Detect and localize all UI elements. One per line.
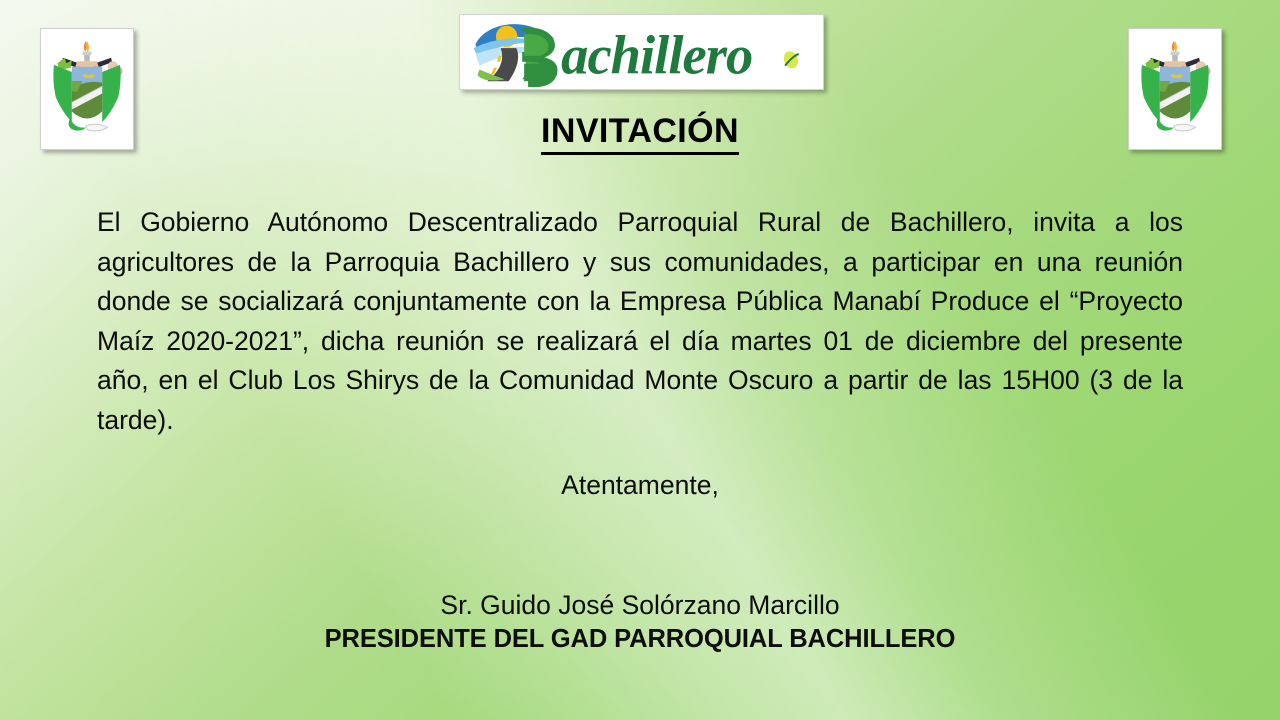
bachillero-logo-banner: achillero [459,14,824,90]
svg-text:achillero: achillero [561,24,752,85]
signatory-name: Sr. Guido José Solórzano Marcillo [0,588,1280,622]
page-title: INVITACIÓN [0,112,1280,155]
invitation-slide: achillero [0,0,1280,720]
invitation-body-text: El Gobierno Autónomo Descentralizado Par… [97,203,1183,440]
page-title-text: INVITACIÓN [541,112,739,155]
signatory-role: PRESIDENTE DEL GAD PARROQUIAL BACHILLERO [0,622,1280,656]
bachillero-logo-icon: achillero [460,15,823,89]
closing-salutation: Atentamente, [0,470,1280,501]
signature-block: Sr. Guido José Solórzano Marcillo PRESID… [0,588,1280,656]
